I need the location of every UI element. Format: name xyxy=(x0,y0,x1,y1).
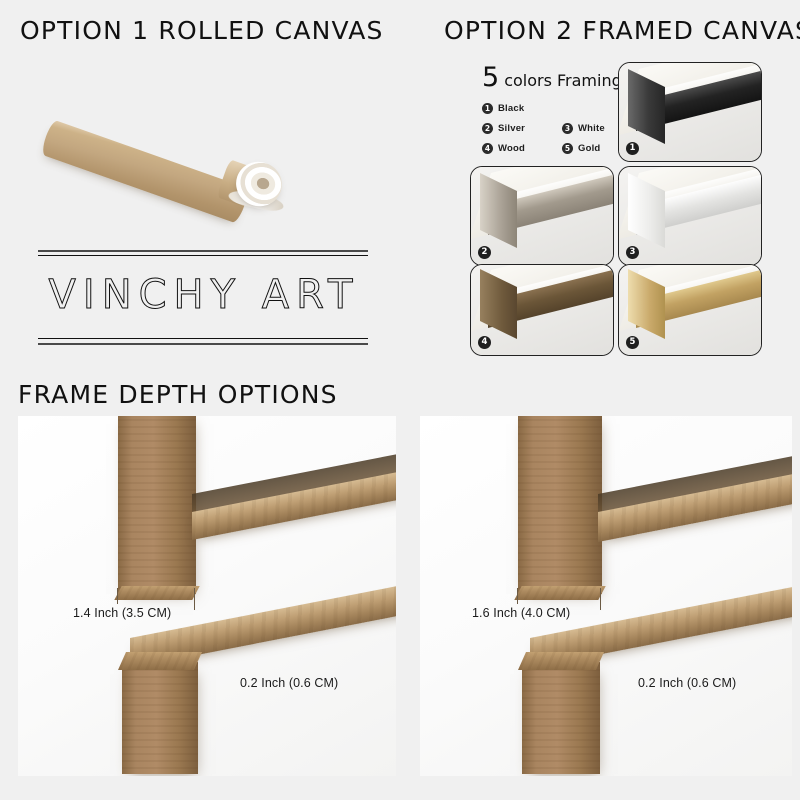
framing-legend-heading: 5 colors Framing xyxy=(482,64,632,91)
legend-label-wood: Wood xyxy=(498,143,525,154)
frame-leg-bottom-bevel xyxy=(514,586,605,600)
card-number-badge-5: 5 xyxy=(626,336,639,349)
brand-name: VINCHY ART xyxy=(44,272,364,318)
cardboard-tube xyxy=(40,119,250,224)
leader-line-right xyxy=(194,588,195,610)
legend-item-black[interactable]: 1 Black xyxy=(482,103,542,114)
frame-leg-vertical xyxy=(518,416,602,594)
number-badge-2: 2 xyxy=(482,123,493,134)
legend-item-wood[interactable]: 4 Wood xyxy=(482,143,542,154)
frame-leg-lower-bevel xyxy=(518,652,604,670)
logo-rule-top-2 xyxy=(38,255,368,256)
infographic-page: OPTION 1 ROLLED CANVAS VINCHY ART OPTION… xyxy=(0,0,800,800)
frame-corner-gold-image xyxy=(619,265,761,355)
frame-depth-photo-right: 1.6 Inch (4.0 CM) 0.2 Inch (0.6 CM) xyxy=(420,416,792,776)
frame-swatch-card-wood[interactable]: 4 xyxy=(470,264,614,356)
frame-swatch-card-silver[interactable]: 2 xyxy=(470,166,614,266)
logo-rule-top-1 xyxy=(38,250,368,252)
depth-label-right: 1.6 Inch (4.0 CM) xyxy=(472,606,570,620)
framing-legend: 5 colors Framing 1 Black 2 Silver 3 Whit… xyxy=(482,64,632,154)
frame-leg-bottom-bevel xyxy=(114,586,199,600)
section-title-frame-depth: FRAME DEPTH OPTIONS xyxy=(18,380,338,409)
thickness-label-left: 0.2 Inch (0.6 CM) xyxy=(240,676,338,690)
legend-label-gold: Gold xyxy=(578,143,600,154)
legend-item-gold[interactable]: 5 Gold xyxy=(562,143,622,154)
card-number-badge-3: 3 xyxy=(626,246,639,259)
card-number-badge-2: 2 xyxy=(478,246,491,259)
framing-count-suffix: colors Framing xyxy=(504,71,622,90)
number-badge-4: 4 xyxy=(482,143,493,154)
card-number-badge-1: 1 xyxy=(626,142,639,155)
legend-label-silver: Silver xyxy=(498,123,525,134)
frame-corner-white-image xyxy=(619,167,761,265)
legend-label-white: White xyxy=(578,123,605,134)
depth-label-left: 1.4 Inch (3.5 CM) xyxy=(73,606,171,620)
number-badge-5: 5 xyxy=(562,143,573,154)
frame-leg-vertical xyxy=(118,416,196,594)
legend-row: 1 Black xyxy=(482,103,632,114)
leader-line-right xyxy=(600,588,601,610)
logo-rule-bottom-1 xyxy=(38,338,368,339)
number-badge-1: 1 xyxy=(482,103,493,114)
legend-item-silver[interactable]: 2 Silver xyxy=(482,123,542,134)
frame-leg-lower-bevel xyxy=(118,652,202,670)
card-number-badge-4: 4 xyxy=(478,336,491,349)
frame-corner-silver-image xyxy=(471,167,613,265)
number-badge-3: 3 xyxy=(562,123,573,134)
frame-swatch-card-black[interactable]: 1 xyxy=(618,62,762,162)
frame-swatch-card-gold[interactable]: 5 xyxy=(618,264,762,356)
frame-corner-wood-image xyxy=(471,265,613,355)
framing-count: 5 xyxy=(482,64,499,91)
frame-corner-black-image xyxy=(619,63,761,161)
frame-leg-lower xyxy=(522,662,600,774)
thickness-label-right: 0.2 Inch (0.6 CM) xyxy=(638,676,736,690)
frame-swatch-card-white[interactable]: 3 xyxy=(618,166,762,266)
logo-rule-bottom-2 xyxy=(38,343,368,345)
section-title-option-1: OPTION 1 ROLLED CANVAS xyxy=(20,16,384,45)
legend-row: 2 Silver 3 White xyxy=(482,123,632,134)
legend-item-white[interactable]: 3 White xyxy=(562,123,622,134)
leader-line-left xyxy=(517,588,518,604)
section-title-option-2: OPTION 2 FRAMED CANVAS xyxy=(444,16,800,45)
leader-line-left xyxy=(117,588,118,604)
legend-label-black: Black xyxy=(498,103,524,114)
rolled-canvas-image xyxy=(40,62,290,197)
frame-leg-lower xyxy=(122,662,198,774)
frame-depth-photo-left: 1.4 Inch (3.5 CM) 0.2 Inch (0.6 CM) xyxy=(18,416,396,776)
brand-logo: VINCHY ART xyxy=(38,246,368,358)
legend-row: 4 Wood 5 Gold xyxy=(482,143,632,154)
